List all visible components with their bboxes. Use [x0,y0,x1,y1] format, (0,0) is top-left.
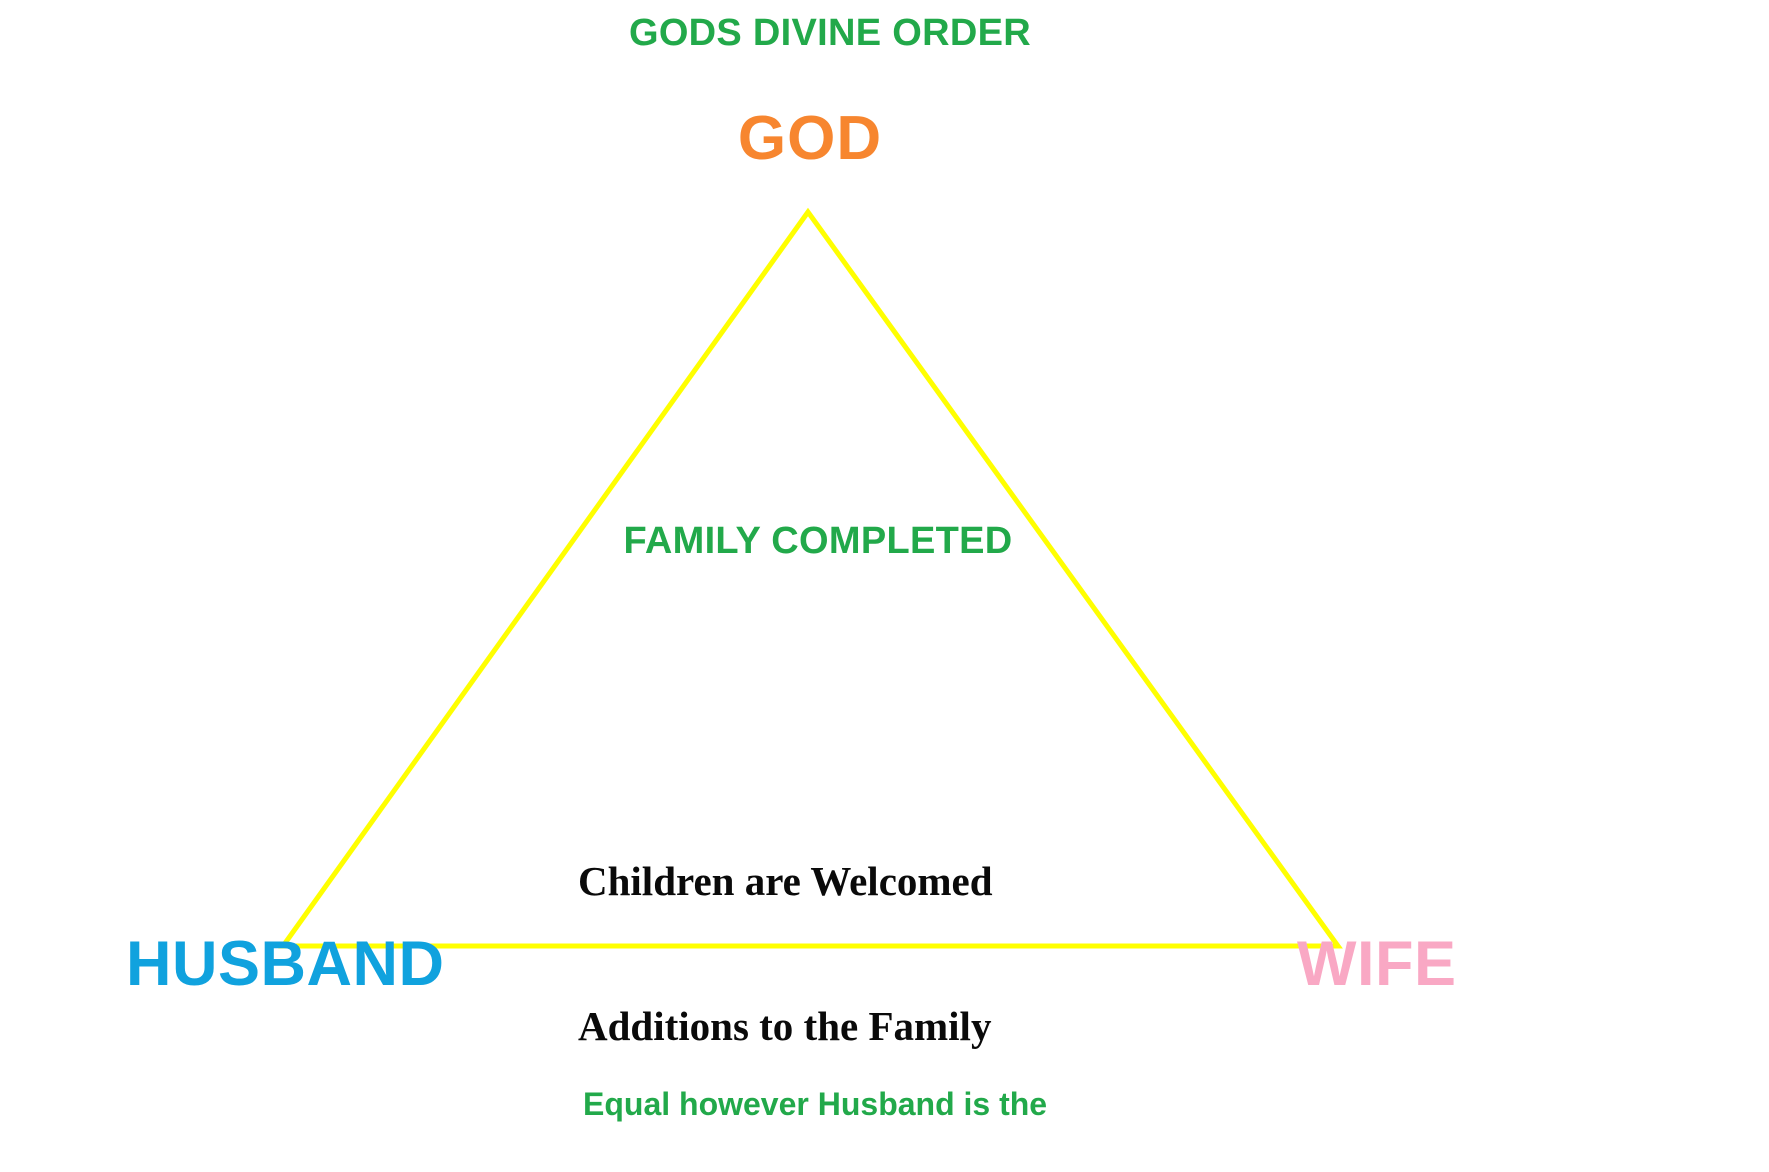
diagram-title: GODS DIVINE ORDER [0,14,1660,52]
vertex-label-wife: WIFE [1297,933,1456,996]
vertex-label-husband: HUSBAND [126,933,445,996]
equality-note-line-1: Equal however Husband is the [583,1077,1047,1132]
equality-note: Equal however Husband is the Spiritual L… [583,967,1047,1172]
apex-label-god: GOD [0,108,1620,170]
children-note-line-1: Children are Welcomed [578,857,993,905]
inner-label-family-completed: FAMILY COMPLETED [0,522,1636,560]
diagram-canvas: GODS DIVINE ORDER GOD FAMILY COMPLETED C… [0,0,1769,1172]
